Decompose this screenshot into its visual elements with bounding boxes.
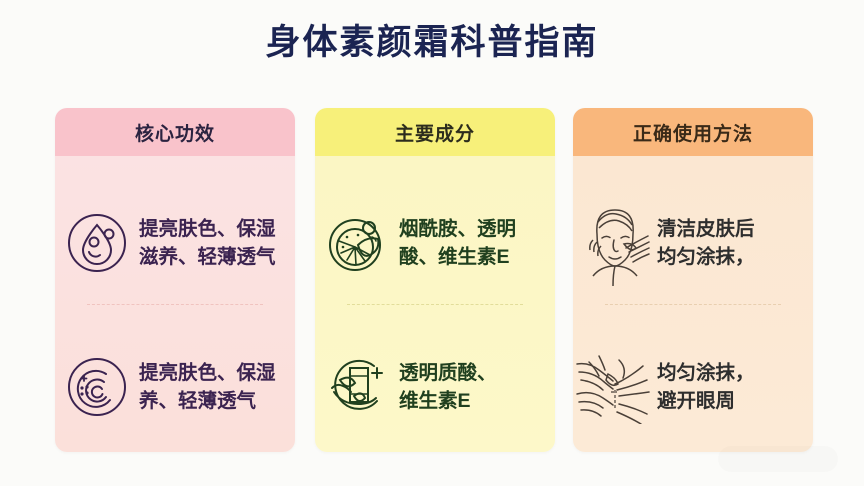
card-body-usage-method: 清洁皮肤后 均匀涂抹， [573, 156, 813, 452]
card-row-item: 提亮肤色、保湿 养、轻薄透气 [55, 322, 295, 452]
hand-bottle-leaf-icon [315, 356, 399, 418]
card-row-item: 烟酰胺、透明 酸、维生素E [315, 178, 555, 308]
card-header-main-ingredients: 主要成分 [315, 108, 555, 156]
card-row: 核心功效 提亮肤色、保湿 滋养、轻薄透气 [0, 108, 864, 454]
water-drop-icon [55, 212, 139, 274]
card-header-usage-method: 正确使用方法 [573, 108, 813, 156]
card-row-item: 透明质酸、 维生素E [315, 322, 555, 452]
card-body-core-benefits: 提亮肤色、保湿 滋养、轻薄透气 [55, 156, 295, 452]
two-hands-applying-icon [573, 350, 657, 424]
card-main-ingredients: 主要成分 [315, 108, 555, 452]
card-divider [87, 304, 263, 305]
citrus-slice-icon [315, 211, 399, 275]
watermark [718, 446, 838, 472]
page-title: 身体素颜霜科普指南 [0, 22, 864, 64]
card-row-text: 清洁皮肤后 均匀涂抹， [657, 215, 813, 272]
card-row-text: 透明质酸、 维生素E [399, 359, 555, 416]
card-divider [347, 304, 523, 305]
card-row-text: 烟酰胺、透明 酸、维生素E [399, 215, 555, 272]
card-row-text: 均匀涂抹， 避开眼周 [657, 359, 813, 416]
card-row-text: 提亮肤色、保湿 养、轻薄透气 [139, 359, 295, 416]
woman-applying-cream-icon [573, 200, 657, 286]
card-row-item: 提亮肤色、保湿 滋养、轻薄透气 [55, 178, 295, 308]
crescent-sparkle-icon [55, 356, 139, 418]
card-header-core-benefits: 核心功效 [55, 108, 295, 156]
infographic-page: 身体素颜霜科普指南 核心功效 提亮肤色、保湿 滋养、轻薄透 [0, 0, 864, 486]
card-row-text: 提亮肤色、保湿 滋养、轻薄透气 [139, 215, 295, 272]
card-divider [605, 304, 781, 305]
card-core-benefits: 核心功效 提亮肤色、保湿 滋养、轻薄透气 [55, 108, 295, 452]
card-row-item: 清洁皮肤后 均匀涂抹， [573, 178, 813, 308]
card-body-main-ingredients: 烟酰胺、透明 酸、维生素E [315, 156, 555, 452]
card-usage-method: 正确使用方法 [573, 108, 813, 452]
card-row-item: 均匀涂抹， 避开眼周 [573, 322, 813, 452]
